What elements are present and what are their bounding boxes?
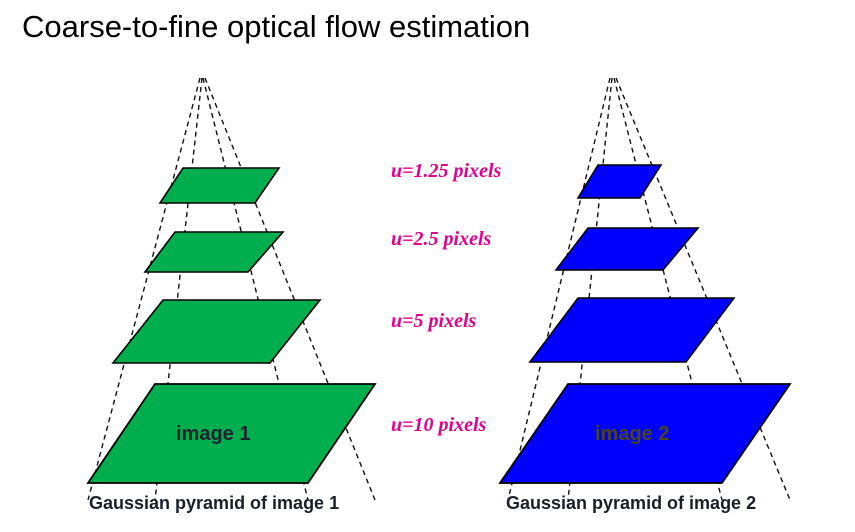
pyramid-left-level-2	[145, 232, 283, 272]
pyramid-right-caption: Gaussian pyramid of image 2	[506, 493, 756, 514]
flow-label-level-4: u=10 pixels	[391, 414, 486, 437]
pyramid-left-level-3	[113, 300, 320, 363]
coarse-to-fine-pyramid-figure	[0, 0, 855, 532]
slide-canvas: Coarse-to-fine optical flow estimation	[0, 0, 855, 532]
pyramid-right-level-2	[556, 228, 698, 270]
pyramid-right-level-3	[530, 298, 734, 362]
flow-label-level-1: u=1.25 pixels	[391, 160, 501, 183]
pyramid-right-level-1	[578, 165, 661, 198]
pyramid-left-caption: Gaussian pyramid of image 1	[89, 493, 339, 514]
image-1-label: image 1	[176, 423, 250, 446]
pyramid-left-level-1	[160, 168, 279, 203]
flow-label-level-2: u=2.5 pixels	[391, 228, 491, 251]
flow-label-level-3: u=5 pixels	[391, 310, 476, 333]
image-2-label: image 2	[595, 423, 669, 446]
